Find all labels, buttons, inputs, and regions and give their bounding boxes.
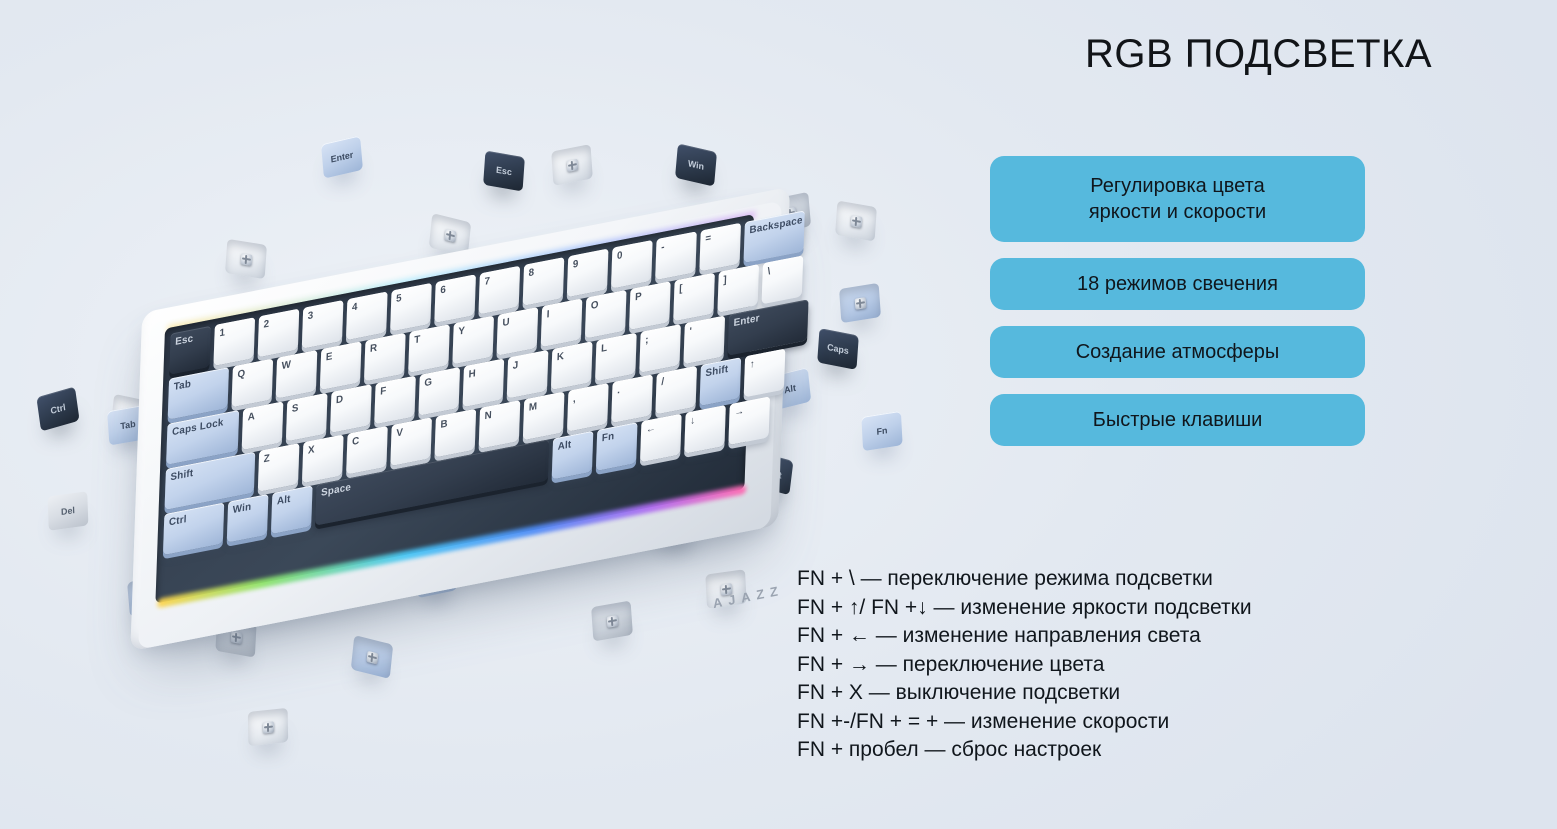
key-y[interactable]: Y: [452, 316, 494, 365]
key-g[interactable]: G: [418, 367, 460, 416]
key-t[interactable]: T: [408, 324, 450, 373]
key-k[interactable]: K: [551, 341, 593, 390]
brand-logo: AJAZZ: [712, 582, 784, 611]
key-arrow-down[interactable]: ↓: [684, 405, 726, 454]
key-3[interactable]: 3: [302, 300, 344, 349]
keycap-legend: Del: [61, 505, 75, 517]
key-semicolon[interactable]: ;: [639, 324, 681, 373]
key-slash[interactable]: /: [655, 366, 697, 415]
loose-keycap-flipped: [839, 283, 881, 323]
key-tab[interactable]: Tab: [168, 367, 229, 420]
loose-keycap: Del: [48, 491, 89, 531]
key-esc[interactable]: Esc: [169, 326, 211, 375]
loose-keycap: Ctrl: [36, 386, 79, 431]
key-h[interactable]: H: [463, 358, 505, 407]
key-fn[interactable]: Fn: [596, 422, 638, 471]
key-0[interactable]: 0: [611, 240, 653, 289]
key-5[interactable]: 5: [390, 283, 432, 332]
key-comma[interactable]: ,: [567, 383, 609, 432]
promo-page: Ctrl Del Tab Alt Caps Fn Shift Enter Esc…: [0, 0, 1557, 829]
key-period[interactable]: .: [611, 374, 653, 423]
key-alt-right[interactable]: Alt: [552, 431, 594, 480]
key-v[interactable]: V: [390, 417, 432, 466]
key-d[interactable]: D: [330, 384, 372, 433]
feature-pill-color-brightness-speed[interactable]: Регулировка цвета яркости и скорости: [990, 156, 1365, 242]
key-9[interactable]: 9: [567, 249, 609, 298]
key-e[interactable]: E: [320, 341, 362, 390]
key-4[interactable]: 4: [346, 291, 388, 340]
shortcut-line-mode: FN + \ — переключение режима подсветки: [797, 565, 1557, 594]
key-r[interactable]: R: [364, 333, 406, 382]
feature-pill-list: Регулировка цвета яркости и скорости 18 …: [990, 156, 1365, 462]
key-quote[interactable]: ': [683, 315, 725, 364]
key-equal[interactable]: =: [699, 223, 741, 272]
key-minus[interactable]: -: [655, 231, 697, 280]
key-b[interactable]: B: [434, 409, 476, 458]
switch-stem-icon: [854, 297, 866, 310]
feature-pill-hotkeys[interactable]: Быстрые клавиши: [990, 394, 1365, 446]
key-backslash[interactable]: \: [762, 255, 804, 304]
key-ctrl-left[interactable]: Ctrl: [163, 502, 224, 555]
key-7[interactable]: 7: [478, 266, 520, 315]
keycap-legend: Ctrl: [50, 402, 66, 416]
key-j[interactable]: J: [507, 350, 549, 399]
feature-pill-line: яркости и скорости: [1089, 201, 1266, 223]
key-6[interactable]: 6: [434, 274, 476, 323]
key-bracket-left[interactable]: [: [673, 273, 715, 322]
shortcut-line-brightness: FN + ↑/ FN +↓ — изменение яркости подсве…: [797, 594, 1557, 623]
switch-stem-icon: [850, 215, 862, 228]
key-i[interactable]: I: [541, 298, 583, 347]
key-win[interactable]: Win: [227, 494, 269, 543]
shortcut-line-reset: FN + пробел — сброс настроек: [797, 736, 1557, 765]
key-a[interactable]: A: [242, 401, 284, 450]
feature-pill-18-modes[interactable]: 18 режимов свечения: [990, 258, 1365, 310]
shortcut-line-direction: FN + ← — изменение направления света: [797, 622, 1557, 651]
key-m[interactable]: M: [523, 392, 565, 441]
key-q[interactable]: Q: [231, 359, 273, 408]
shortcut-line-off: FN + X — выключение подсветки: [797, 679, 1557, 708]
key-n[interactable]: N: [479, 400, 521, 449]
loose-keycap-flipped: [835, 200, 877, 241]
key-f[interactable]: F: [374, 376, 416, 425]
key-s[interactable]: S: [286, 393, 328, 442]
switch-stem-icon: [262, 721, 273, 733]
key-shift-right[interactable]: Shift: [700, 357, 742, 406]
key-8[interactable]: 8: [523, 257, 565, 306]
key-z[interactable]: Z: [258, 443, 300, 492]
page-title: RGB ПОДСВЕТКА: [970, 32, 1547, 77]
key-o[interactable]: O: [585, 290, 627, 339]
shortcut-line-speed: FN +-/FN + = + — изменение скорости: [797, 708, 1557, 737]
keycap-legend: Fn: [876, 425, 887, 437]
key-c[interactable]: C: [346, 426, 388, 475]
key-p[interactable]: P: [629, 281, 671, 330]
feature-pill-line: Регулировка цвета: [1090, 175, 1264, 197]
key-2[interactable]: 2: [258, 309, 300, 358]
key-arrow-right[interactable]: →: [728, 396, 770, 445]
key-arrow-left[interactable]: ←: [640, 414, 682, 463]
key-w[interactable]: W: [276, 350, 318, 399]
key-x[interactable]: X: [302, 434, 344, 483]
feature-pill-atmosphere[interactable]: Создание атмосферы: [990, 326, 1365, 378]
key-bracket-right[interactable]: ]: [717, 264, 759, 313]
shortcut-list: FN + \ — переключение режима подсветки F…: [797, 565, 1557, 765]
key-arrow-up[interactable]: ↑: [744, 349, 786, 398]
loose-keycap: Fn: [861, 411, 902, 451]
info-panel: RGB ПОДСВЕТКА Регулировка цвета яркости …: [960, 0, 1557, 829]
key-1[interactable]: 1: [213, 317, 255, 366]
keycap-legend: Enter: [330, 149, 353, 164]
key-u[interactable]: U: [497, 307, 539, 356]
key-l[interactable]: L: [595, 333, 637, 382]
mechanical-keyboard: Esc 1 2 3 4 5 6 7 8 9 0 - = Backspace Ta…: [117, 75, 842, 746]
shortcut-line-color: FN + → — переключение цвета: [797, 651, 1557, 680]
key-alt-left[interactable]: Alt: [271, 485, 313, 534]
